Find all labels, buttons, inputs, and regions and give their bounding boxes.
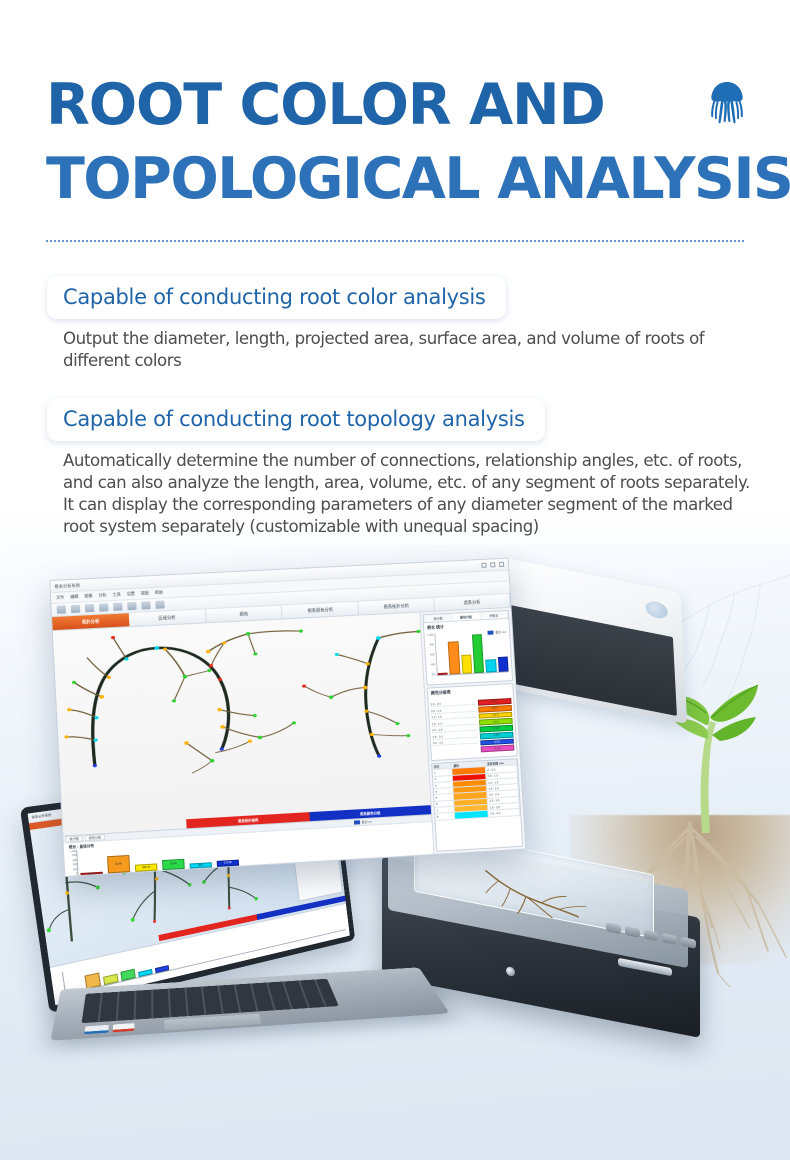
- laptop-cpu-sticker: [84, 1025, 109, 1034]
- scan-icon[interactable]: [85, 604, 94, 612]
- bar-panel-tab-1[interactable]: 颜色分级: [452, 612, 479, 620]
- ytick-4: 200: [67, 868, 78, 872]
- bp-bar-4: [486, 659, 497, 673]
- legend-color-swatches: 0-0.5 0.5-1 1-1.5 1.5-2 2-2.5 2.5-3 3-3.…: [478, 695, 515, 752]
- scanner-brand-logo: [645, 600, 668, 621]
- bp-ytick-4: 200: [427, 673, 437, 676]
- root-analysis-software-window: 根系分析系统 文件 编辑 图像 分析 工具 设置 视图 帮助: [49, 558, 526, 877]
- menu-item-3[interactable]: 分析: [98, 592, 106, 598]
- minimize-icon[interactable]: [481, 563, 486, 568]
- root-taproot-icon: [700, 78, 754, 132]
- class-table: 序号 1 2 3 4 5 6 7 8 颜色: [432, 759, 520, 820]
- poster-page: ROOT COLOR AND TOPOLOGICAL ANALYSIS Capa…: [0, 0, 790, 1160]
- settings-gear-icon[interactable]: [155, 600, 164, 608]
- bp-bar-5: [498, 657, 509, 672]
- window-controls[interactable]: [481, 562, 504, 568]
- bar-panel-tab-0[interactable]: 统计图: [424, 614, 451, 622]
- bar-2: 286.75: [135, 863, 158, 872]
- legend-panel-body: 0.0 - 0.5 0.5 - 1.0 1.0 - 1.5 1.5 - 2.0 …: [428, 693, 516, 757]
- menu-item-0[interactable]: 文件: [56, 594, 64, 600]
- bar-5: 113.86: [217, 859, 239, 867]
- product-photo-composition: 根系分析系统: [0, 545, 790, 1160]
- menu-item-1[interactable]: 编辑: [70, 594, 78, 600]
- bar-4: 48.2: [190, 862, 212, 869]
- color-picker-icon[interactable]: [141, 601, 150, 609]
- feature-pill-color: Capable of conducting root color analysi…: [47, 276, 506, 319]
- page-header: ROOT COLOR AND TOPOLOGICAL ANALYSIS: [0, 0, 790, 232]
- maximize-icon[interactable]: [490, 562, 495, 567]
- laptop-app-title: 根系分析系统: [31, 813, 52, 820]
- feature-topology-body: Automatically determine the number of co…: [63, 450, 763, 538]
- ytick-2: 600: [66, 859, 77, 863]
- bar-panel-tab-2[interactable]: 参数表: [480, 611, 507, 619]
- bp-bar-3: [472, 634, 484, 673]
- bp-ytick-0: 1,000: [425, 634, 435, 637]
- bar-3: 79.44: [162, 858, 185, 870]
- feature-pill-color-label: Capable of conducting root color analysi…: [63, 285, 486, 309]
- panel-color-legend: 颜色分级表 0.0 - 0.5 0.5 - 1.0 1.0 - 1.5 1.5 …: [427, 683, 518, 761]
- class-table-col-range: 直径范围 mm 0 - 0.5 0.5 - 1.0 1.0 - 1.5 1.5 …: [485, 759, 520, 817]
- legend-row-labels: 0.0 - 0.5 0.5 - 1.0 1.0 - 1.5 1.5 - 2.0 …: [430, 697, 478, 755]
- title-line-1: ROOT COLOR AND: [46, 68, 686, 142]
- bottom-chart-yticks: 1,000 800 600 400 200 0: [66, 850, 78, 876]
- right-panel-stack: 统计图 颜色分级 参数表 根长 统计 根长 mm 1,000: [420, 608, 525, 854]
- app-title: 根系分析系统: [54, 582, 80, 589]
- legend-swatch: [354, 821, 360, 825]
- feature-list: Capable of conducting root color analysi…: [0, 276, 790, 538]
- ytick-1: 800: [66, 854, 77, 858]
- bp-ytick-2: 600: [426, 653, 436, 656]
- panel-bar-chart: 统计图 颜色分级 参数表 根长 统计 根长 mm 1,000: [422, 610, 513, 686]
- page-title: ROOT COLOR AND TOPOLOGICAL ANALYSIS: [46, 68, 686, 216]
- bp-ytick-3: 400: [426, 663, 436, 666]
- bottom-tab-grade[interactable]: 颜色分级: [85, 834, 106, 841]
- legend-label: 根长 mm: [362, 820, 372, 825]
- bar-panel-bars: [435, 628, 508, 675]
- ytick-3: 400: [67, 863, 78, 867]
- open-file-icon[interactable]: [57, 605, 67, 613]
- bp-bar-2: [461, 655, 472, 674]
- td-no-7: 8: [435, 813, 455, 820]
- menu-item-2[interactable]: 图像: [84, 593, 92, 599]
- feature-color-analysis: Capable of conducting root color analysi…: [0, 276, 790, 372]
- save-icon[interactable]: [71, 605, 81, 613]
- td-range-7: 3.5 - 4.0: [488, 809, 520, 817]
- menu-item-4[interactable]: 工具: [113, 592, 121, 598]
- class-table-col-color: 颜色: [452, 761, 489, 819]
- ytick-0: 1,000: [66, 850, 77, 854]
- feature-pill-topology: Capable of conducting root topology anal…: [47, 398, 545, 441]
- ytick-5: 0: [67, 872, 78, 876]
- menu-item-5[interactable]: 设置: [127, 591, 135, 597]
- dotted-divider: [45, 240, 745, 242]
- zoom-out-icon[interactable]: [113, 603, 122, 611]
- panel-class-table: 序号 1 2 3 4 5 6 7 8 颜色: [431, 758, 523, 852]
- menu-item-7[interactable]: 帮助: [155, 590, 163, 596]
- legend-row-6: 3.0 - 3.5: [433, 739, 478, 746]
- title-line-2: TOPOLOGICAL ANALYSIS: [46, 142, 686, 216]
- zoom-in-icon[interactable]: [99, 603, 108, 611]
- bar-1: 62.46: [107, 854, 130, 873]
- bp-bar-1: [448, 641, 460, 675]
- feature-color-body: Output the diameter, length, projected a…: [63, 328, 763, 372]
- close-icon[interactable]: [499, 562, 504, 567]
- measure-icon[interactable]: [127, 602, 136, 610]
- laptop-gpu-sticker: [113, 1023, 135, 1032]
- swatch-7: 3.5-4: [481, 745, 515, 753]
- bar-panel-plot: 根长 mm 1,000 800 600 400 200: [424, 628, 512, 684]
- app-body: 根系拓扑结构 根系颜色分级 统计图 颜色分级 根长 mm 根长 -: [53, 608, 525, 876]
- td-color-7: [455, 811, 489, 819]
- menu-item-6[interactable]: 视图: [141, 590, 149, 596]
- root-trace-canvas[interactable]: 根系拓扑结构 根系颜色分级 统计图 颜色分级 根长 mm 根长 -: [53, 612, 435, 875]
- feature-topology-analysis: Capable of conducting root topology anal…: [0, 398, 790, 538]
- bp-ytick-1: 800: [425, 643, 435, 646]
- bottom-tab-chart[interactable]: 统计图: [65, 835, 83, 842]
- feature-pill-topology-label: Capable of conducting root topology anal…: [63, 407, 525, 431]
- bar-0: 31.47: [80, 872, 102, 875]
